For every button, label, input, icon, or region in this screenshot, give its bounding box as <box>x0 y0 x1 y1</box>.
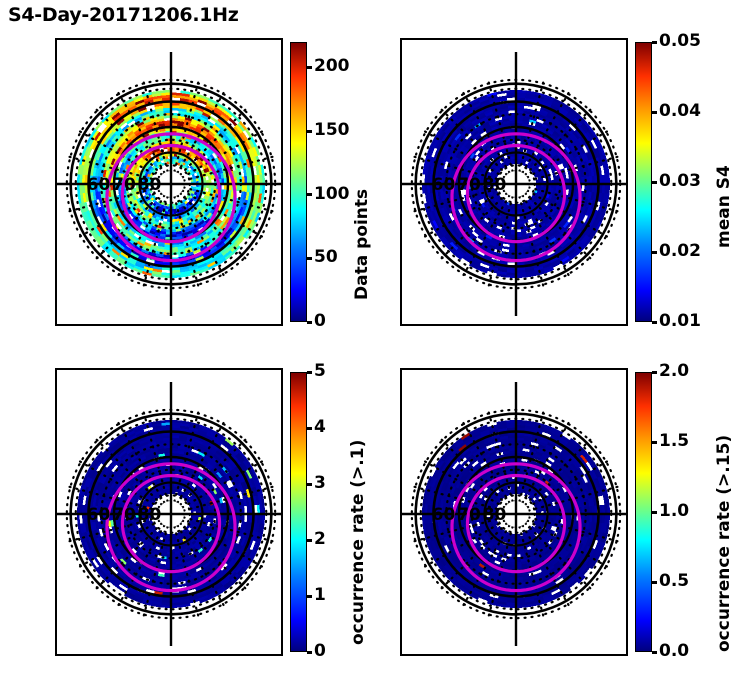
colorbar-tick-label: 5 <box>314 361 326 382</box>
colorbar-label-occurrence-rate-p1: occurrence rate (>.1) <box>348 440 368 645</box>
colorbar-tick-mark <box>307 130 312 133</box>
colorbar-tick-mark <box>652 41 657 44</box>
colorbar-tick-mark <box>652 321 657 324</box>
colorbar-tick-mark <box>307 595 312 598</box>
colorbar-tick-mark <box>652 371 657 374</box>
colorbar-tick-label: 0.0 <box>659 641 689 662</box>
colorbar-tick-mark <box>652 441 657 444</box>
colorbar-label-occurrence-rate-p15: occurrence rate (>.15) <box>714 435 731 652</box>
colorbar-tick-mark <box>652 511 657 514</box>
colorbar-tick-label: 1.0 <box>659 501 689 522</box>
polar-plot-mean-s4 <box>402 40 626 324</box>
colorbar-tick-mark <box>652 251 657 254</box>
colorbar-tick-label: 0.04 <box>659 101 701 122</box>
colorbar-tick-label: 0.01 <box>659 311 701 332</box>
colorbar-tick-label: 200 <box>314 56 350 77</box>
figure-title: S4-Day-20171206.1Hz <box>8 4 239 26</box>
colorbar-tick-mark <box>307 539 312 542</box>
polar-axes <box>57 370 281 654</box>
colorbar-tick-label: 0.02 <box>659 241 701 262</box>
colorbar-label-data-points: Data points <box>352 189 372 300</box>
colorbar-tick-label: 50 <box>314 247 338 268</box>
colorbar-tick-mark <box>307 321 312 324</box>
colorbar-tick-mark <box>652 581 657 584</box>
figure-canvas: S4-Day-20171206.1Hz 607080 050100150200 … <box>0 0 731 674</box>
colorbar-tick-label: 0.5 <box>659 571 689 592</box>
colorbar-tick-mark <box>652 181 657 184</box>
panel-mean-s4[interactable]: 607080 <box>400 38 628 326</box>
polar-plot-occurrence-rate-p1 <box>57 370 281 654</box>
panel-occurrence-rate-p1[interactable]: 607080 <box>55 368 283 656</box>
colorbar-tick-mark <box>307 483 312 486</box>
polar-axes <box>57 40 281 324</box>
colorbar-tick-label: 0 <box>314 311 326 332</box>
polar-plot-occurrence-rate-p15 <box>402 370 626 654</box>
colorbar-tick-label: 0.03 <box>659 171 701 192</box>
colorbar-tick-label: 2 <box>314 529 326 550</box>
colorbar-occurrence-rate-p1[interactable] <box>290 372 307 652</box>
panel-occurrence-rate-p15[interactable]: 607080 <box>400 368 628 656</box>
colorbar-tick-mark <box>307 651 312 654</box>
colorbar-tick-label: 1 <box>314 585 326 606</box>
polar-axes <box>402 370 626 654</box>
colorbar-mean-s4[interactable] <box>635 42 652 322</box>
colorbar-tick-label: 0.05 <box>659 31 701 52</box>
colorbar-tick-label: 150 <box>314 120 350 141</box>
polar-plot-data-points <box>57 40 281 324</box>
colorbar-ticks-occurrence-rate-p15: 0.00.51.01.52.0 <box>652 372 712 652</box>
colorbar-ticks-mean-s4: 0.010.020.030.040.05 <box>652 42 712 322</box>
colorbar-data-points[interactable] <box>290 42 307 322</box>
colorbar-tick-mark <box>307 193 312 196</box>
colorbar-label-mean-s4: mean S4 <box>714 165 731 248</box>
polar-axes <box>402 40 626 324</box>
panel-data-points[interactable]: 607080 <box>55 38 283 326</box>
colorbar-tick-mark <box>307 257 312 260</box>
colorbar-tick-label: 100 <box>314 184 350 205</box>
colorbar-tick-label: 2.0 <box>659 361 689 382</box>
colorbar-tick-mark <box>307 66 312 69</box>
colorbar-tick-mark <box>652 111 657 114</box>
colorbar-tick-mark <box>652 651 657 654</box>
colorbar-tick-label: 3 <box>314 473 326 494</box>
colorbar-tick-label: 4 <box>314 417 326 438</box>
colorbar-tick-label: 0 <box>314 641 326 662</box>
colorbar-tick-label: 1.5 <box>659 431 689 452</box>
colorbar-tick-mark <box>307 371 312 374</box>
colorbar-tick-mark <box>307 427 312 430</box>
colorbar-occurrence-rate-p15[interactable] <box>635 372 652 652</box>
